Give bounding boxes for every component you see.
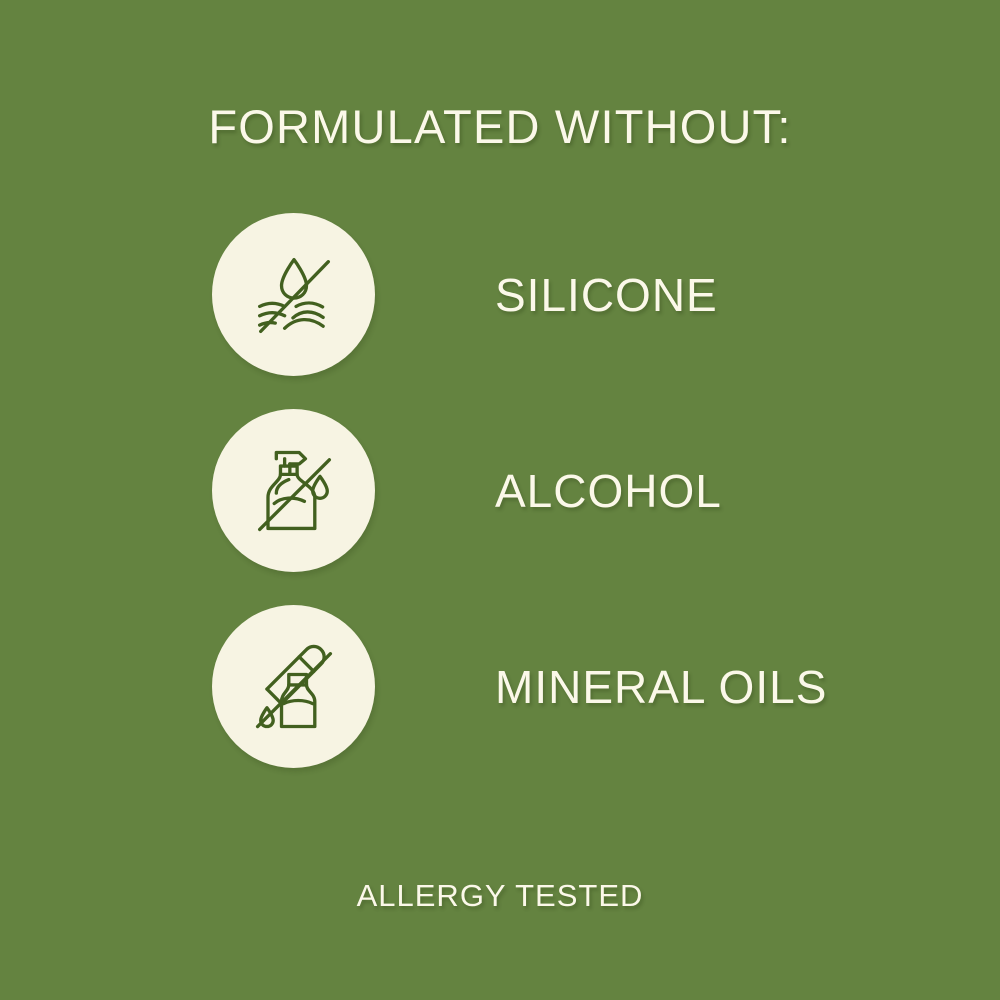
claims-list: SILICONE [0, 213, 1000, 801]
formulated-without-poster: FORMULATED WITHOUT: SILICO [0, 0, 1000, 1000]
no-alcohol-pump-bottle-icon [242, 439, 346, 543]
list-item: SILICONE [0, 213, 1000, 376]
list-item: ALCOHOL [0, 409, 1000, 572]
allergy-tested-note: ALLERGY TESTED [0, 880, 1000, 911]
list-item: MINERAL OILS [0, 605, 1000, 768]
list-item-label: ALCOHOL [495, 468, 722, 514]
no-mineral-oils-badge [212, 605, 375, 768]
page-title: FORMULATED WITHOUT: [0, 103, 1000, 150]
list-item-label: SILICONE [495, 272, 718, 318]
no-alcohol-badge [212, 409, 375, 572]
no-mineral-oils-dropper-bottle-icon [242, 635, 346, 739]
list-item-label: MINERAL OILS [495, 664, 827, 710]
no-silicone-badge [212, 213, 375, 376]
no-silicone-droplet-waves-icon [242, 243, 346, 347]
